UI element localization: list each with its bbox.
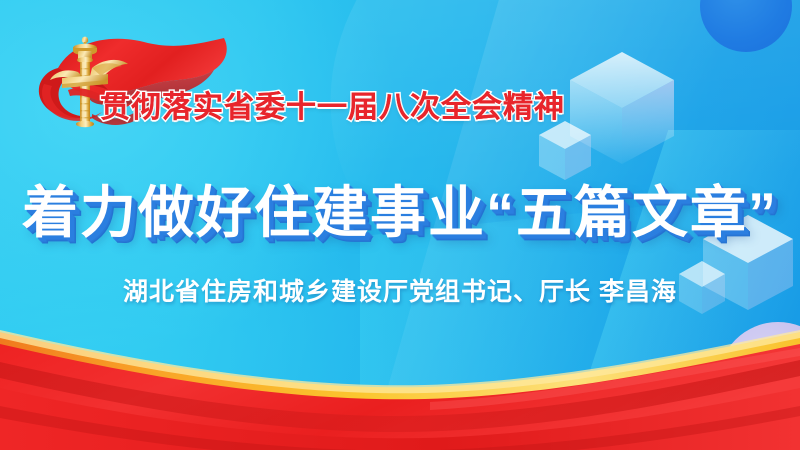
page-title: 着力做好住建事业“五篇文章”	[0, 168, 800, 249]
decorative-blue-circle	[700, 0, 792, 52]
isometric-cube-icon-large-upper	[566, 48, 678, 166]
promo-banner: 贯彻落实省委十一届八次全会精神 贯彻落实省委十一届八次全会精神 着力做好住建事业…	[0, 0, 800, 450]
subtitle-byline: 湖北省住房和城乡建设厅党组书记、厅长 李昌海	[0, 272, 800, 308]
bottom-ribbon-waves	[0, 310, 800, 450]
headline-text: 贯彻落实省委十一届八次全会精神	[100, 82, 565, 126]
